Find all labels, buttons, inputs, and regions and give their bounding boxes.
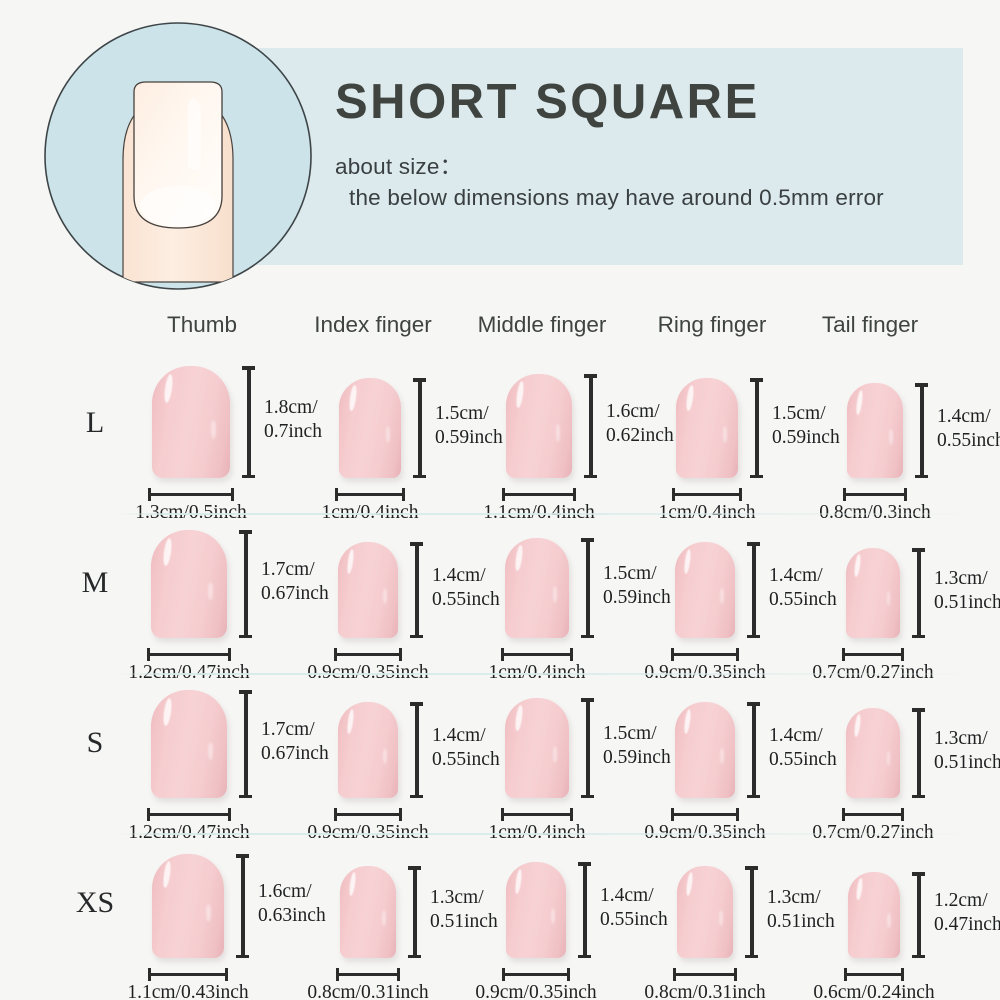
row-divider [118, 513, 970, 515]
height-value: 1.5cm/0.59inch [772, 402, 840, 451]
height-value: 1.2cm/0.47inch [934, 889, 1000, 938]
height-value: 1.3cm/0.51inch [767, 886, 835, 935]
height-value: 1.4cm/0.55inch [600, 884, 668, 933]
height-value: 1.4cm/0.55inch [432, 564, 500, 613]
vertical-measure-icon [239, 530, 252, 638]
nail-tip-icon [506, 374, 572, 478]
nail-tip-icon [152, 366, 230, 478]
horizontal-measure-icon [673, 968, 737, 981]
height-value: 1.4cm/0.55inch [937, 405, 1000, 454]
horizontal-measure-icon [147, 648, 231, 661]
about-size-label: about size： [335, 149, 975, 181]
height-value: 1.6cm/0.62inch [606, 400, 674, 449]
nail-tip-icon [338, 702, 398, 798]
page-title: SHORT SQUARE [335, 78, 975, 127]
size-row-xs: XS1.6cm/0.63inch1.1cm/0.43inch1.3cm/0.51… [0, 838, 1000, 998]
column-header-thumb: Thumb [167, 312, 237, 338]
horizontal-measure-icon [842, 808, 904, 821]
height-value: 1.5cm/0.59inch [603, 722, 671, 771]
vertical-measure-icon [747, 702, 760, 798]
nail-tip-icon [846, 708, 900, 798]
horizontal-measure-icon [148, 968, 228, 981]
column-header-index-finger: Index finger [314, 312, 432, 338]
horizontal-measure-icon [842, 648, 904, 661]
nail-tip-icon [151, 530, 227, 638]
height-value: 1.3cm/0.51inch [430, 886, 498, 935]
height-value: 1.4cm/0.55inch [432, 724, 500, 773]
vertical-measure-icon [242, 366, 255, 478]
error-note: the below dimensions may have around 0.5… [349, 185, 975, 211]
size-row-m: M1.7cm/0.67inch1.2cm/0.47inch1.4cm/0.55i… [0, 518, 1000, 678]
nail-tip-icon [340, 866, 396, 958]
horizontal-measure-icon [334, 808, 402, 821]
size-row-l: L1.8cm/0.7inch1.3cm/0.5inch1.5cm/0.59inc… [0, 358, 1000, 518]
column-header-ring-finger: Ring finger [658, 312, 767, 338]
nail-tip-icon [846, 548, 900, 638]
horizontal-measure-icon [334, 648, 402, 661]
nail-tip-icon [339, 378, 401, 478]
nail-tip-icon [847, 383, 903, 478]
vertical-measure-icon [912, 708, 925, 798]
nail-tip-icon [675, 542, 735, 638]
finger-illustration-icon [42, 20, 314, 292]
height-value: 1.3cm/0.51inch [934, 567, 1000, 616]
height-value: 1.8cm/0.7inch [264, 396, 322, 445]
nail-tip-icon [848, 872, 900, 958]
nail-tip-icon [676, 378, 738, 478]
horizontal-measure-icon [501, 648, 573, 661]
height-value: 1.4cm/0.55inch [769, 564, 837, 613]
vertical-measure-icon [750, 378, 763, 478]
height-value: 1.5cm/0.59inch [603, 562, 671, 611]
horizontal-measure-icon [336, 968, 400, 981]
horizontal-measure-icon [502, 488, 576, 501]
horizontal-measure-icon [671, 648, 739, 661]
horizontal-measure-icon [502, 968, 570, 981]
vertical-measure-icon [912, 872, 925, 958]
horizontal-measure-icon [148, 488, 234, 501]
vertical-measure-icon [578, 862, 591, 958]
vertical-measure-icon [915, 383, 928, 478]
size-row-s: S1.7cm/0.67inch1.2cm/0.47inch1.4cm/0.55i… [0, 678, 1000, 838]
size-label-s: S [60, 726, 130, 760]
width-value: 0.9cm/0.35inch [475, 982, 596, 1000]
vertical-measure-icon [236, 854, 249, 958]
nail-size-chart-page: SHORT SQUARE about size： the below dimen… [0, 0, 1000, 1000]
nail-tip-icon [675, 702, 735, 798]
horizontal-measure-icon [501, 808, 573, 821]
nail-tip-icon [677, 866, 733, 958]
column-header-row: ThumbIndex fingerMiddle fingerRing finge… [130, 312, 1000, 346]
nail-tip-icon [506, 862, 566, 958]
vertical-measure-icon [410, 542, 423, 638]
vertical-measure-icon [413, 378, 426, 478]
nail-tip-icon [152, 854, 224, 958]
nail-tip-icon [505, 538, 569, 638]
vertical-measure-icon [239, 690, 252, 798]
height-value: 1.7cm/0.67inch [261, 718, 329, 767]
size-label-xs: XS [60, 886, 130, 920]
horizontal-measure-icon [844, 968, 904, 981]
row-divider [118, 673, 970, 675]
vertical-measure-icon [747, 542, 760, 638]
size-label-l: L [60, 406, 130, 440]
vertical-measure-icon [584, 374, 597, 478]
size-label-m: M [60, 566, 130, 600]
height-value: 1.3cm/0.51inch [934, 727, 1000, 776]
nail-tip-icon [338, 542, 398, 638]
horizontal-measure-icon [147, 808, 231, 821]
nail-tip-icon [151, 690, 227, 798]
row-divider [118, 833, 970, 835]
column-header-tail-finger: Tail finger [822, 312, 918, 338]
vertical-measure-icon [912, 548, 925, 638]
height-value: 1.5cm/0.59inch [435, 402, 503, 451]
header-text-block: SHORT SQUARE about size： the below dimen… [335, 78, 975, 211]
horizontal-measure-icon [672, 488, 742, 501]
vertical-measure-icon [581, 698, 594, 798]
horizontal-measure-icon [843, 488, 907, 501]
column-header-middle-finger: Middle finger [478, 312, 607, 338]
horizontal-measure-icon [671, 808, 739, 821]
width-value: 0.8cm/0.31inch [644, 982, 765, 1000]
vertical-measure-icon [581, 538, 594, 638]
nail-tip-icon [505, 698, 569, 798]
height-value: 1.7cm/0.67inch [261, 558, 329, 607]
horizontal-measure-icon [335, 488, 405, 501]
height-value: 1.6cm/0.63inch [258, 880, 326, 929]
width-value: 0.6cm/0.24inch [813, 982, 934, 1000]
width-value: 0.8cm/0.31inch [307, 982, 428, 1000]
vertical-measure-icon [410, 702, 423, 798]
vertical-measure-icon [745, 866, 758, 958]
height-value: 1.4cm/0.55inch [769, 724, 837, 773]
width-value: 1.1cm/0.43inch [127, 982, 248, 1000]
vertical-measure-icon [408, 866, 421, 958]
